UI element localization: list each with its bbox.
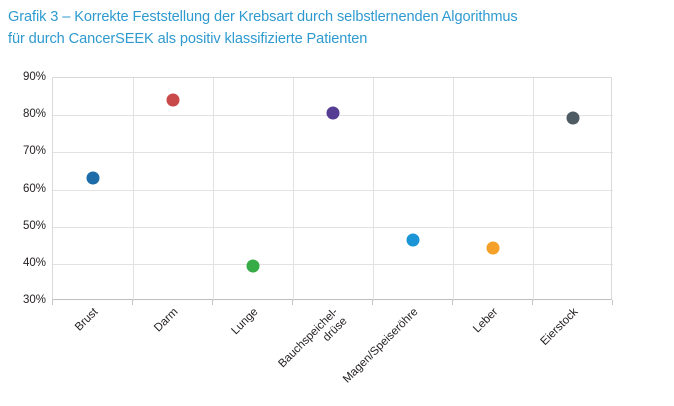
data-point[interactable] bbox=[407, 234, 420, 247]
x-axis-tick-label-text: Lunge bbox=[229, 306, 261, 338]
y-axis-tick-label: 70% bbox=[2, 145, 46, 157]
y-axis-tick-label: 60% bbox=[2, 183, 46, 195]
chart-page: Grafik 3 – Korrekte Feststellung der Kre… bbox=[0, 0, 674, 406]
data-point[interactable] bbox=[247, 259, 260, 272]
x-axis-tick-label-text: Bauchspeichel- drüse bbox=[276, 306, 350, 380]
x-axis-tickmark bbox=[212, 300, 213, 305]
x-axis-tickmark bbox=[612, 300, 613, 305]
x-axis-tickmark bbox=[52, 300, 53, 305]
y-axis-tick-label: 40% bbox=[2, 257, 46, 269]
data-point[interactable] bbox=[87, 172, 100, 185]
x-axis-tickmark bbox=[452, 300, 453, 305]
x-axis-tick-label-text: Darm bbox=[152, 306, 181, 335]
x-axis: BrustDarmLungeBauchspeichel- drüseMagen/… bbox=[52, 300, 612, 406]
x-axis-tickmark bbox=[292, 300, 293, 305]
plot-area bbox=[52, 77, 612, 300]
x-axis-tick-label-text: Brust bbox=[73, 306, 101, 334]
data-point[interactable] bbox=[327, 107, 340, 120]
x-axis-tick-label-text: Eierstock bbox=[539, 306, 582, 349]
x-gridline bbox=[213, 78, 214, 301]
y-axis-tick-label: 50% bbox=[2, 220, 46, 232]
data-point[interactable] bbox=[567, 111, 580, 124]
y-axis-tick-label: 80% bbox=[2, 108, 46, 120]
y-axis: 30%40%50%60%70%80%90% bbox=[0, 77, 46, 300]
x-axis-tick-label-text: Leber bbox=[471, 306, 501, 336]
y-axis-tick-label: 30% bbox=[2, 294, 46, 306]
y-gridline bbox=[53, 152, 613, 153]
page-title: Grafik 3 – Korrekte Feststellung der Kre… bbox=[8, 6, 666, 50]
y-gridline bbox=[53, 227, 613, 228]
x-gridline bbox=[293, 78, 294, 301]
x-gridline bbox=[133, 78, 134, 301]
y-gridline bbox=[53, 190, 613, 191]
x-gridline bbox=[533, 78, 534, 301]
x-axis-tickmark bbox=[532, 300, 533, 305]
y-gridline bbox=[53, 264, 613, 265]
x-axis-tickmark bbox=[132, 300, 133, 305]
y-axis-tick-label: 90% bbox=[2, 71, 46, 83]
data-point[interactable] bbox=[167, 94, 180, 107]
